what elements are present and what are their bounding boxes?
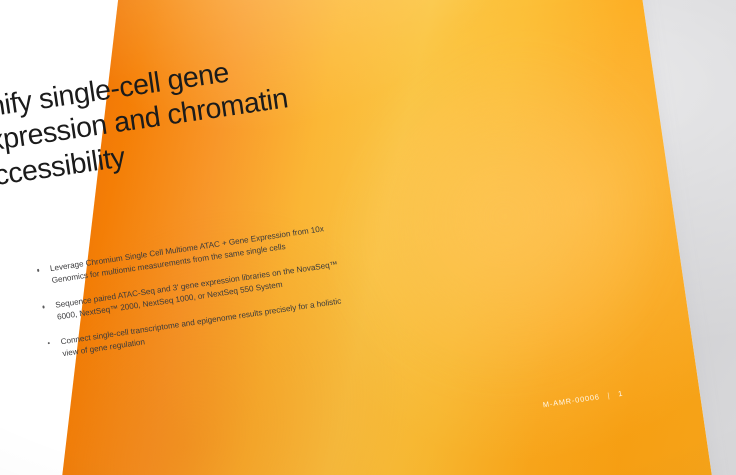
bullet-dot-icon bbox=[37, 269, 39, 271]
bullet-dot-icon bbox=[48, 342, 50, 344]
page-surface: TECHNICAL NOTE Unify single-cell gene ex… bbox=[0, 0, 715, 475]
footer-separator: | bbox=[602, 390, 616, 401]
bullet-dot-icon bbox=[42, 306, 44, 308]
footer-page-number: 1 bbox=[617, 389, 623, 399]
tilted-page: TECHNICAL NOTE Unify single-cell gene ex… bbox=[0, 0, 715, 475]
document-cover-photo: TECHNICAL NOTE Unify single-cell gene ex… bbox=[0, 0, 736, 475]
